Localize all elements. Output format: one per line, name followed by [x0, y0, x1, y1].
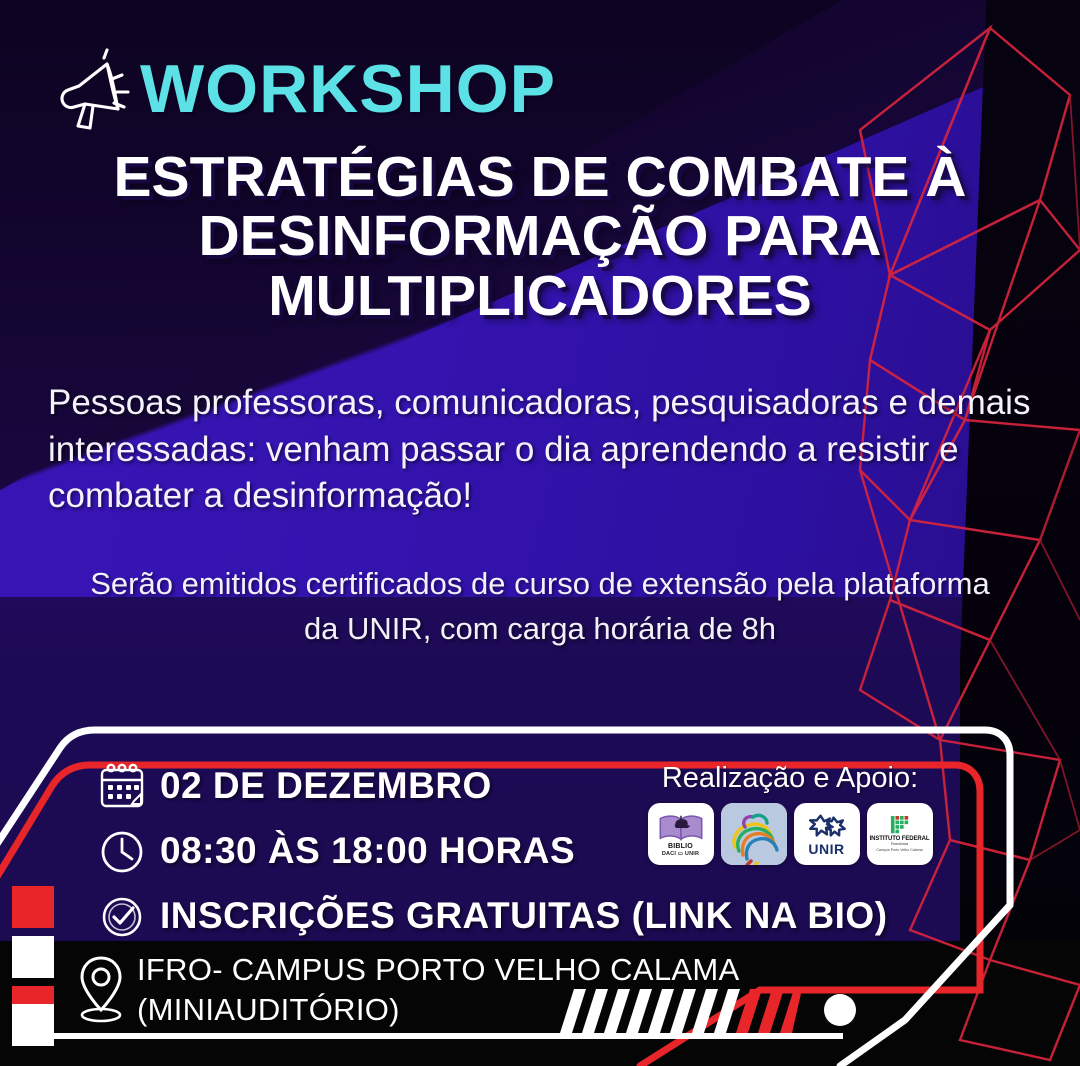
sponsors-heading: Realização e Apoio: — [640, 762, 940, 795]
info-row-registration: INSCRIÇÕES GRATUITAS (LINK NA BIO) — [96, 890, 926, 942]
unir-star-icon — [806, 812, 848, 840]
calendar-icon — [96, 760, 148, 812]
logo-if-line3: Campus Porto Velho Calama — [876, 848, 922, 852]
decor-square-1 — [12, 886, 54, 928]
logo-brain-illustration — [721, 803, 787, 865]
lead-paragraph: Pessoas professoras, comunicadoras, pesq… — [48, 380, 1033, 520]
certificate-note: Serão emitidos certificados de curso de … — [70, 562, 1010, 652]
page-title: ESTRATÉGIAS DE COMBATE À DESINFORMAÇÃO P… — [60, 148, 1020, 326]
clock-icon — [96, 825, 148, 877]
brain-icon — [721, 803, 787, 865]
logo-biblio-line2: DACI ▭ UNIR — [662, 851, 699, 857]
sponsors-block: Realização e Apoio: BIBLIO DACI ▭ UNIR — [640, 762, 940, 865]
info-date-label: 02 DE DEZEMBRO — [160, 765, 492, 807]
megaphone-icon — [52, 48, 144, 136]
decor-square-4 — [12, 1004, 54, 1046]
info-registration-label: INSCRIÇÕES GRATUITAS (LINK NA BIO) — [160, 895, 888, 937]
location-pin-icon — [75, 952, 127, 1028]
logo-unir: UNIR — [794, 803, 860, 865]
if-grid-icon — [886, 816, 914, 836]
check-circle-icon — [96, 890, 148, 942]
book-lamp-icon — [656, 811, 706, 843]
decor-diagonal-stripes — [552, 985, 802, 1037]
logo-biblio-daci-unir: BIBLIO DACI ▭ UNIR — [648, 803, 714, 865]
sponsors-logos: BIBLIO DACI ▭ UNIR — [640, 803, 940, 865]
info-time-label: 08:30 ÀS 18:00 HORAS — [160, 830, 575, 872]
eyebrow-workshop: WORKSHOP — [140, 50, 556, 128]
logo-unir-label: UNIR — [808, 841, 844, 857]
poster-canvas: WORKSHOP ESTRATÉGIAS DE COMBATE À DESINF… — [0, 0, 1080, 1066]
decor-square-2 — [12, 936, 54, 978]
logo-if-line2: Rondônia — [891, 842, 908, 846]
logo-biblio-line1: BIBLIO — [668, 843, 693, 850]
location-line-1: IFRO- CAMPUS PORTO VELHO CALAMA — [137, 950, 739, 990]
logo-instituto-federal: INSTITUTO FEDERAL Rondônia Campus Porto … — [867, 803, 933, 865]
